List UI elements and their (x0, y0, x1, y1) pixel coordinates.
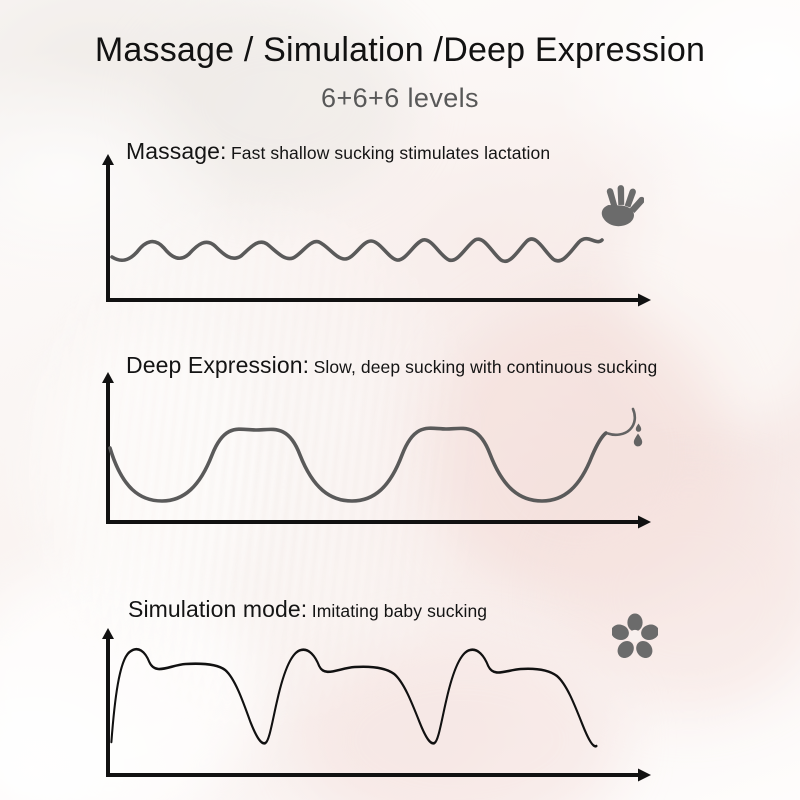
poster-content: Massage / Simulation /Deep Expression 6+… (0, 0, 800, 800)
caption-simulation: Simulation mode: Imitating baby sucking (128, 596, 487, 623)
deep-expression-waveform (110, 428, 606, 501)
chart-massage-axes (106, 162, 640, 300)
milk-drop-icon (604, 406, 652, 457)
hand-icon (596, 182, 644, 237)
simulation-waveform (111, 649, 596, 746)
simulation-description: Imitating baby sucking (312, 601, 487, 621)
deep-expression-description: Slow, deep sucking with continuous sucki… (314, 357, 658, 377)
simulation-lead-label: Simulation mode: (128, 596, 307, 622)
deep-expression-lead-label: Deep Expression: (126, 352, 309, 378)
waveform-charts (0, 0, 800, 800)
chart-simulation-axes (106, 636, 640, 775)
chart-deep-expression-axes (106, 380, 640, 522)
flower-icon (612, 612, 658, 663)
poster-root: Massage / Simulation /Deep Expression 6+… (0, 0, 800, 800)
caption-deep-expression: Deep Expression: Slow, deep sucking with… (126, 352, 657, 379)
massage-waveform (112, 239, 602, 262)
